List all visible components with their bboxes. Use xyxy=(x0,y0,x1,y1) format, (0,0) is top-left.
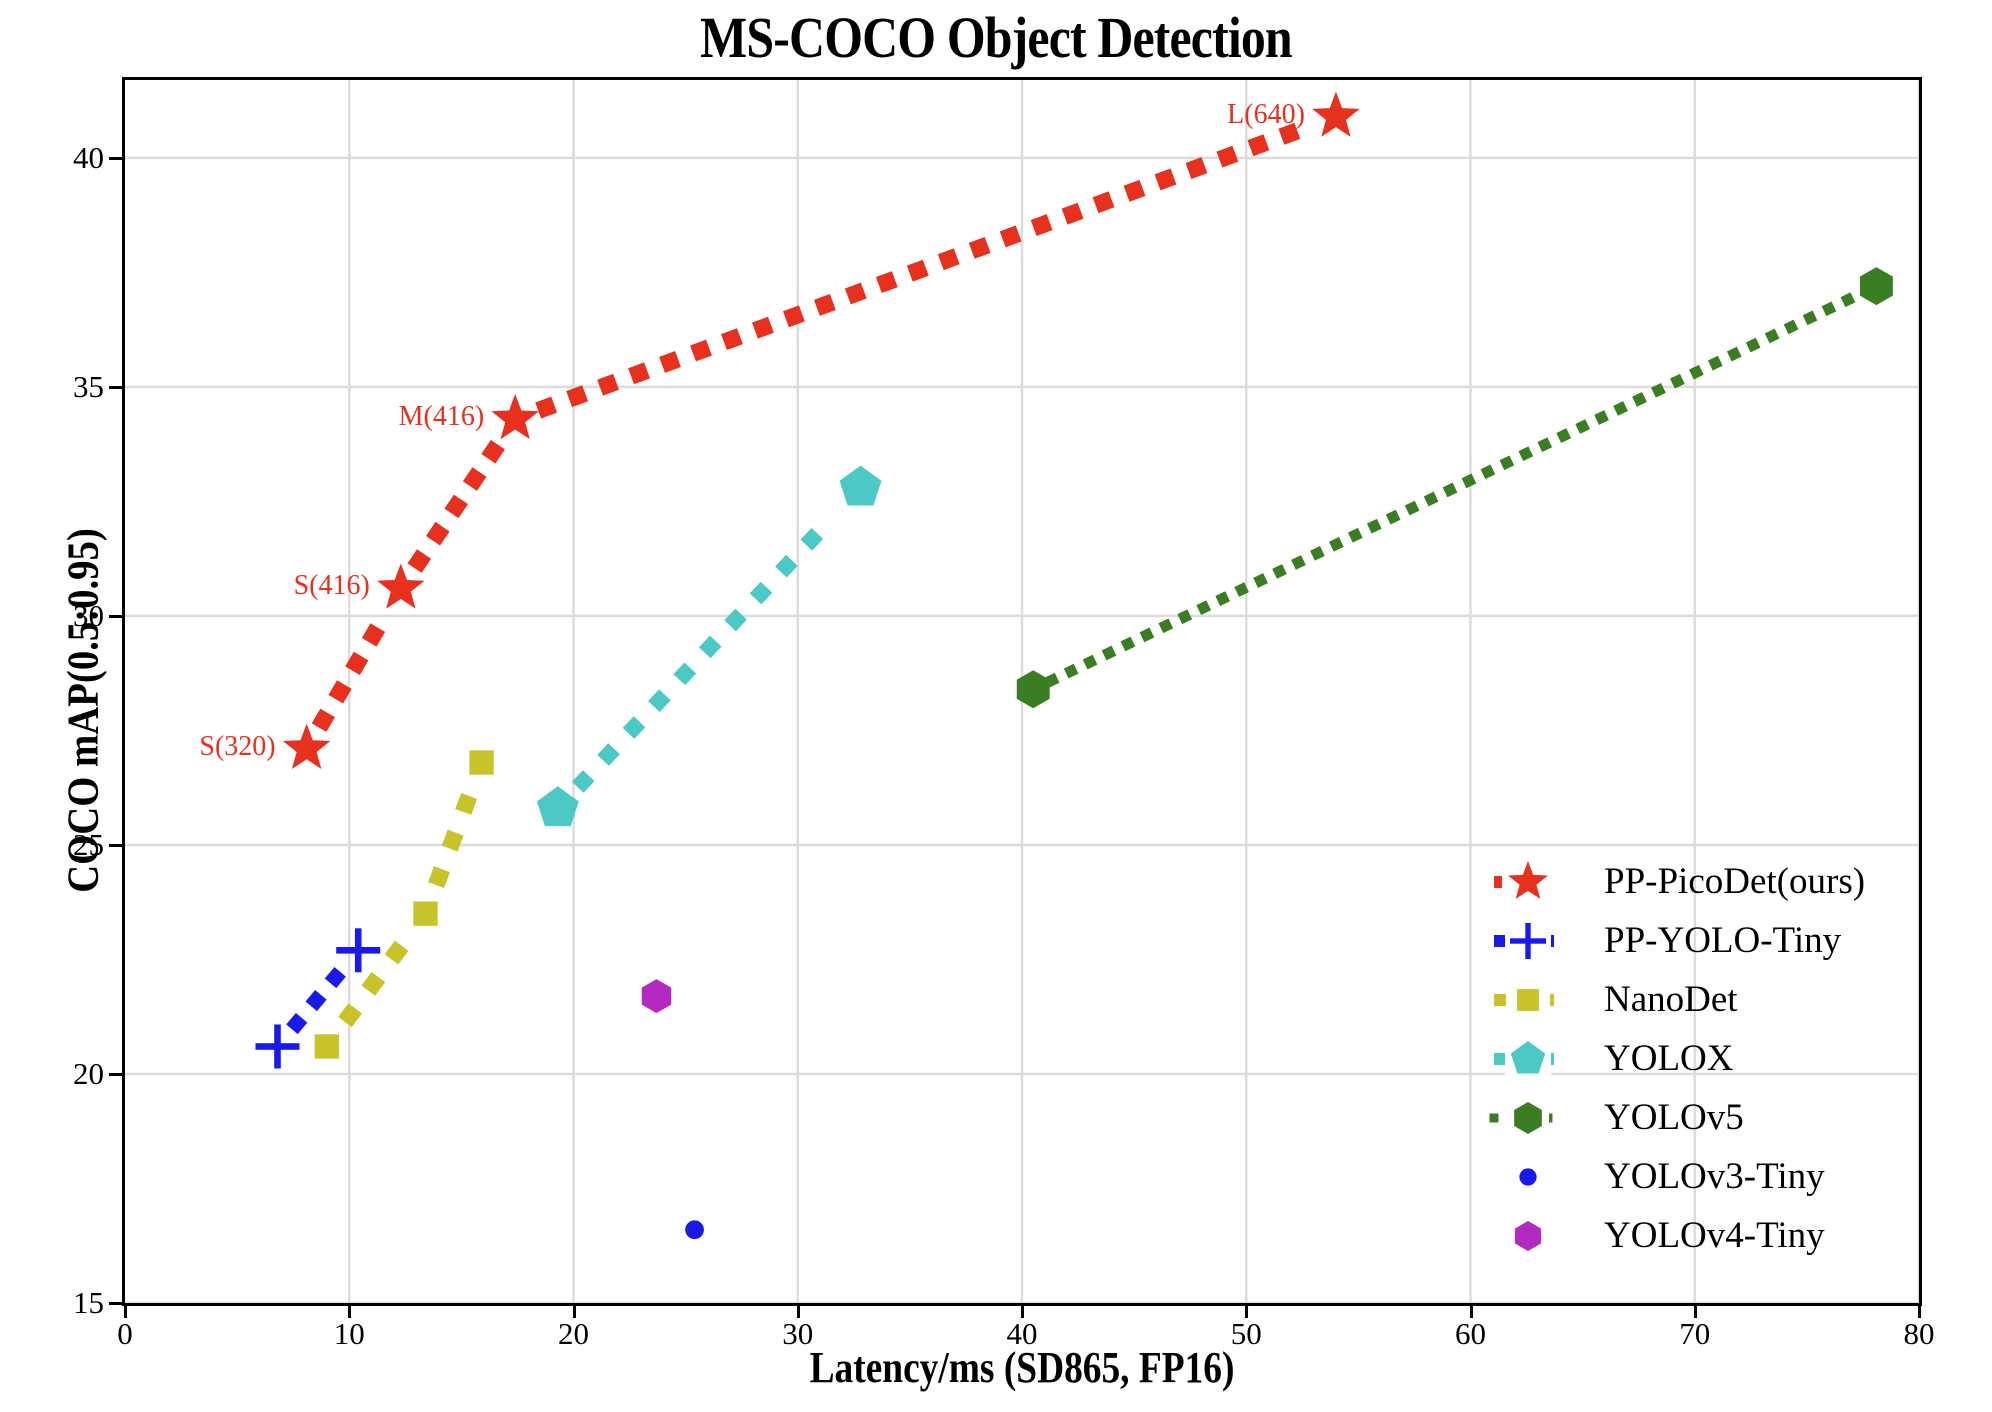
legend-marker-svg xyxy=(1468,916,1588,966)
x-tick-mark xyxy=(124,1305,127,1318)
y-tick-mark xyxy=(109,386,122,389)
x-tick-mark xyxy=(1470,1305,1473,1318)
legend-item-label: NanoDet xyxy=(1588,978,1738,1021)
legend-item[interactable]: YOLOX xyxy=(1468,1029,1916,1088)
point-label: S(320) xyxy=(199,731,275,763)
y-axis-label: COCO mAP(0.5:0.95) xyxy=(58,315,109,1107)
data-point-marker xyxy=(469,750,493,774)
legend-marker-icon xyxy=(1468,1152,1588,1202)
legend: PP-PicoDet(ours)PP-YOLO-TinyNanoDetYOLOX… xyxy=(1468,852,1916,1265)
legend-item-label: YOLOv3-Tiny xyxy=(1588,1155,1825,1198)
legend-marker-icon xyxy=(1468,975,1588,1025)
data-point-marker xyxy=(491,394,539,439)
data-point-marker xyxy=(1860,267,1893,305)
data-point-marker xyxy=(642,979,671,1013)
x-tick-mark xyxy=(797,1305,800,1318)
legend-marker-svg xyxy=(1468,1093,1588,1143)
legend-symbol xyxy=(1515,1221,1541,1251)
data-point-marker xyxy=(1312,92,1360,137)
x-tick-mark xyxy=(1245,1305,1248,1318)
series-yolox xyxy=(537,466,882,826)
point-label: L(640) xyxy=(1227,99,1305,131)
y-tick-label: 15 xyxy=(0,1285,104,1321)
point-label: M(416) xyxy=(399,401,485,433)
legend-item[interactable]: PP-PicoDet(ours) xyxy=(1468,852,1916,911)
series-yolov3-tiny xyxy=(685,1220,704,1239)
legend-item-label: PP-YOLO-Tiny xyxy=(1588,919,1841,962)
legend-marker-icon xyxy=(1468,1211,1588,1261)
data-point-marker xyxy=(413,902,437,926)
y-tick-mark xyxy=(109,157,122,160)
point-label: S(416) xyxy=(294,570,370,602)
legend-marker-icon xyxy=(1468,1034,1588,1084)
legend-marker-svg xyxy=(1468,857,1588,907)
x-axis-label: Latency/ms (SD865, FP16) xyxy=(257,1342,1787,1393)
x-tick-mark xyxy=(573,1305,576,1318)
x-tick-label: 80 xyxy=(1904,1316,1935,1352)
data-point-marker xyxy=(283,724,331,769)
series-yolov4-tiny xyxy=(642,979,671,1013)
legend-marker-icon xyxy=(1468,916,1588,966)
x-tick-mark xyxy=(348,1305,351,1318)
legend-marker-svg xyxy=(1468,1152,1588,1202)
legend-item-label: YOLOv4-Tiny xyxy=(1588,1214,1825,1257)
legend-item-label: YOLOX xyxy=(1588,1037,1733,1080)
legend-item[interactable]: YOLOv4-Tiny xyxy=(1468,1206,1916,1265)
y-tick-mark xyxy=(109,1073,122,1076)
data-point-marker xyxy=(315,1034,339,1058)
data-point-marker xyxy=(336,928,380,972)
x-tick-mark xyxy=(1918,1305,1921,1318)
data-point-marker xyxy=(685,1220,704,1239)
data-point-marker xyxy=(840,466,882,506)
legend-marker-svg xyxy=(1468,1211,1588,1261)
x-tick-mark xyxy=(1021,1305,1024,1318)
legend-marker-svg xyxy=(1468,975,1588,1025)
y-tick-mark xyxy=(109,615,122,618)
x-tick-label: 0 xyxy=(117,1316,133,1352)
legend-symbol xyxy=(1519,1168,1536,1185)
data-point-marker xyxy=(255,1024,299,1068)
y-tick-label: 40 xyxy=(0,140,104,176)
legend-item[interactable]: NanoDet xyxy=(1468,970,1916,1029)
y-tick-mark xyxy=(109,1302,122,1305)
series-nanodet xyxy=(315,750,494,1058)
legend-item-label: YOLOv5 xyxy=(1588,1096,1744,1139)
series-yolov5 xyxy=(1017,267,1893,708)
legend-item-label: PP-PicoDet(ours) xyxy=(1588,860,1865,903)
chart-title: MS-COCO Object Detection xyxy=(139,4,1852,71)
legend-item[interactable]: YOLOv5 xyxy=(1468,1088,1916,1147)
legend-marker-icon xyxy=(1468,1093,1588,1143)
x-tick-mark xyxy=(1694,1305,1697,1318)
figure-root: MS-COCO Object Detection 152025303540 01… xyxy=(0,0,1992,1412)
legend-marker-svg xyxy=(1468,1034,1588,1084)
legend-symbol xyxy=(1517,989,1539,1011)
legend-marker-icon xyxy=(1468,857,1588,907)
y-tick-mark xyxy=(109,844,122,847)
legend-item[interactable]: PP-YOLO-Tiny xyxy=(1468,911,1916,970)
data-point-marker xyxy=(377,563,425,608)
legend-item[interactable]: YOLOv3-Tiny xyxy=(1468,1147,1916,1206)
